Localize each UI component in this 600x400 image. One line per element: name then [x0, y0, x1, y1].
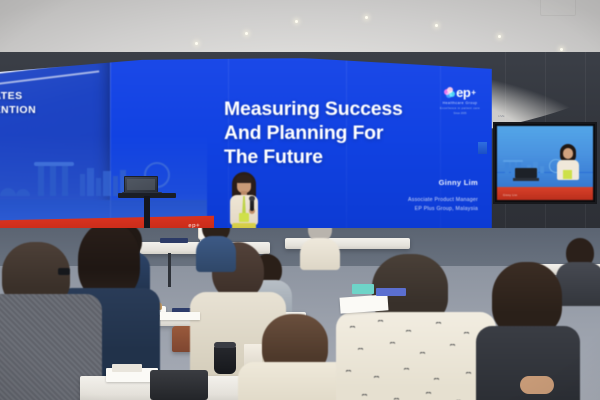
ep-wordmark: ep — [456, 86, 470, 99]
eyeglasses — [58, 268, 70, 275]
monitor-speaker — [555, 144, 581, 190]
screen-left-segment: IATES VENTION — [0, 58, 110, 240]
presenter-role: Associate Product Manager — [408, 196, 478, 205]
monitor-laptop — [513, 168, 539, 181]
ep-logo: ep + Healthcare Group Excellence in pati… — [440, 86, 480, 115]
monitor-speaker-face — [563, 148, 573, 159]
presenter-hair-front — [236, 175, 252, 183]
presenter-name: Ginny Lim — [408, 178, 478, 187]
napkin — [112, 364, 142, 372]
edge-screen-line-one: IATES — [0, 90, 23, 102]
ep-logo-mark: ep + — [440, 86, 480, 99]
ep-logo-dots-icon — [444, 87, 455, 98]
monitor-caption: Ginny Lim — [503, 194, 517, 197]
mbs-skypark — [34, 162, 74, 166]
screen-seam — [110, 58, 111, 240]
table-leg — [168, 253, 171, 287]
side-monitor: LIVE — [493, 122, 597, 204]
mbs-tower — [62, 164, 68, 196]
handbag — [150, 370, 208, 400]
monitor-laptop-lid — [515, 168, 537, 178]
cbd-tower — [87, 168, 94, 196]
torso — [300, 238, 340, 270]
laptop-screen — [124, 176, 158, 193]
monitor-bezel-label: LIVE — [498, 114, 505, 118]
folder — [376, 288, 406, 296]
audience-member — [336, 254, 496, 400]
slide-title: Measuring Success And Planning For The F… — [224, 98, 429, 169]
hand — [520, 376, 554, 394]
cbd-tower — [96, 178, 101, 196]
audience-member — [300, 228, 340, 268]
mug-lid — [214, 342, 236, 348]
travel-mug — [214, 346, 236, 374]
slide-title-line-1: Measuring Success — [224, 98, 429, 122]
torso — [196, 236, 236, 272]
sticky-note — [352, 284, 374, 294]
edge-screen-line-two: VENTION — [0, 104, 36, 116]
esplanade-dome — [16, 189, 30, 196]
presentation-photo-scene: IATES VENTION — [0, 0, 600, 400]
ep-plus-mark: + — [471, 89, 476, 97]
ep-tagline: Healthcare Group — [440, 101, 480, 105]
mbs-tower — [50, 164, 56, 196]
audience-member — [196, 228, 236, 268]
microphone-head — [249, 196, 255, 201]
audience-area — [0, 228, 600, 400]
presenter-org: EP Plus Group, Malaysia — [408, 205, 478, 214]
cbd-tower — [80, 174, 85, 196]
presenter-badge — [239, 213, 249, 222]
slide-credits: Ginny Lim Associate Product Manager EP P… — [408, 178, 478, 214]
ep-year: Since 2005 — [440, 112, 480, 115]
monitor-screen: Ginny Lim — [497, 126, 593, 200]
slide-title-line-2: And Planning For — [224, 122, 429, 146]
bird-pattern — [336, 312, 496, 400]
mbs-tower — [38, 164, 44, 196]
wall-sign — [478, 142, 487, 154]
monitor-laptop-base — [513, 178, 539, 181]
ep-tagline-sub: Excellence in patient care — [440, 107, 480, 110]
monitor-speaker-badge — [563, 170, 572, 179]
paper-sheet — [160, 312, 200, 320]
torso — [336, 312, 496, 400]
head — [492, 262, 562, 336]
paper-sheet — [340, 294, 389, 313]
notebook — [160, 238, 188, 243]
slide-title-line-3: The Future — [224, 146, 429, 170]
decorative-stripe — [0, 70, 99, 86]
